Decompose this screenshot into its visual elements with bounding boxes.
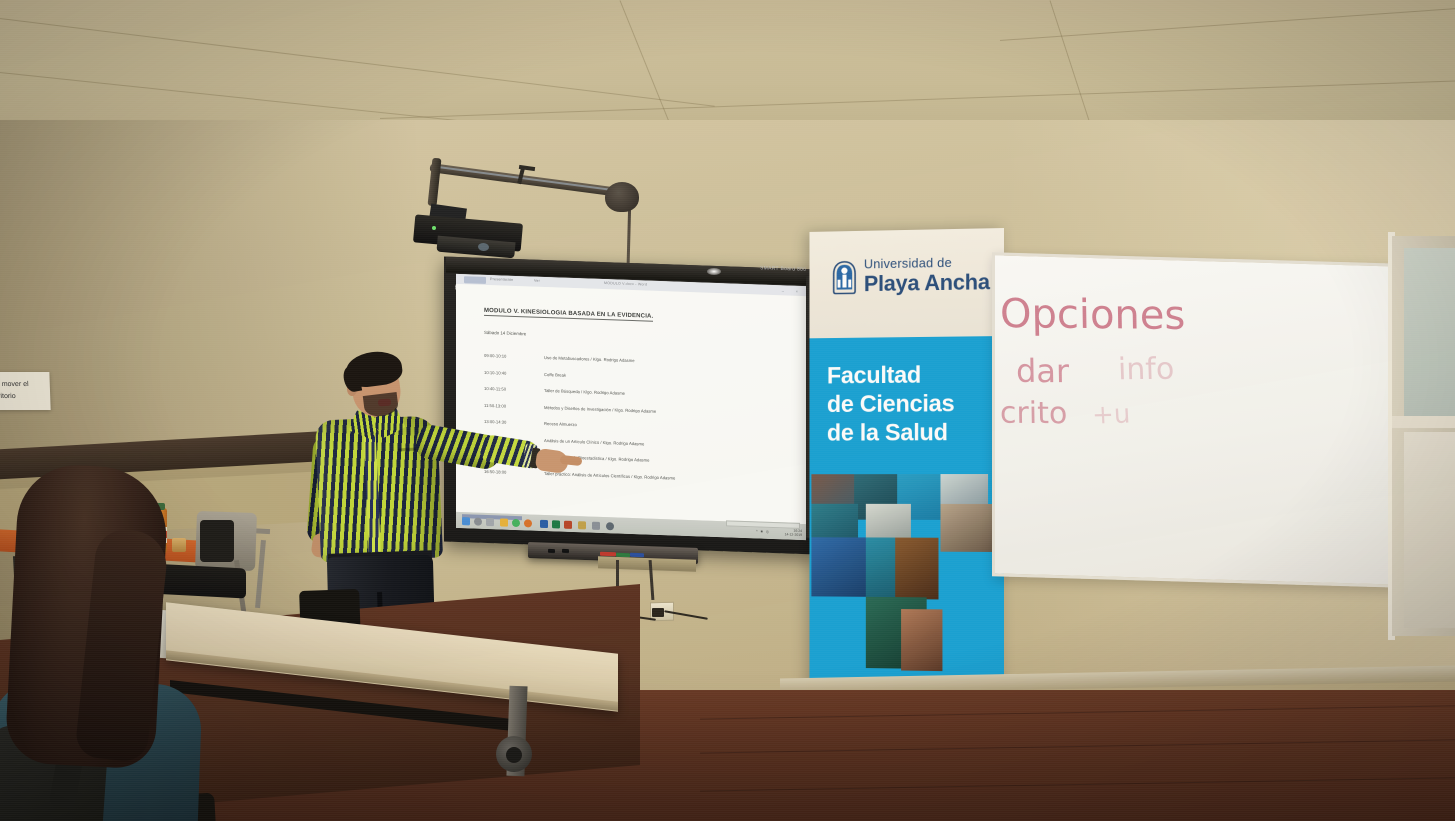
whiteboard-text-line2-faded: info xyxy=(1117,352,1174,387)
window-tab-2[interactable]: Ver xyxy=(534,279,540,283)
app-icon[interactable] xyxy=(592,522,600,530)
window-minimize-button[interactable]: – xyxy=(782,288,784,293)
power-plug xyxy=(652,608,664,617)
seated-student xyxy=(0,466,205,821)
wall-sign: mover el ritorio xyxy=(0,372,51,410)
faculty-line3: de la Salud xyxy=(827,418,955,447)
window-title: MODULO V.docx - Word xyxy=(604,281,647,287)
excel-icon[interactable] xyxy=(552,520,560,528)
schedule-activity: Taller de Búsqueda / Klgo. Rodrigo Adasm… xyxy=(544,388,625,396)
collage-photo xyxy=(895,538,938,600)
banner-faculty-title: Facultad de Ciencias de la Salud xyxy=(827,360,955,447)
schedule-activity: Taller práctico: Análisis de Artículos C… xyxy=(544,470,675,480)
whiteboard-text-line3-faded: +u xyxy=(1091,400,1131,431)
banner-photo-collage xyxy=(809,474,1004,680)
window-panel-lower xyxy=(1404,432,1455,628)
slide-date: Sábado 14 Diciembre xyxy=(484,330,526,336)
folder-icon[interactable] xyxy=(578,521,586,529)
banner-university-line2: Playa Ancha xyxy=(864,269,990,297)
wall-sign-line2: ritorio xyxy=(0,393,16,400)
window-glass-upper xyxy=(1404,248,1455,416)
shirt-pocket xyxy=(398,448,416,452)
window-transom-bar xyxy=(1392,416,1455,428)
rollup-banner: Universidad de Playa Ancha Facultad de C… xyxy=(809,228,1004,748)
banner-university-line1: Universidad de xyxy=(864,255,952,271)
wall-sign-line1: mover el xyxy=(2,381,29,388)
media-icon[interactable] xyxy=(606,522,614,530)
whiteboard-text-line1: Opciones xyxy=(1000,291,1186,339)
schedule-activity: Uso de Metabuscadores / Klgo. Rodrigo Ad… xyxy=(544,355,635,363)
pen-slot xyxy=(562,549,569,553)
whiteboard-text-line3: crito xyxy=(1000,396,1068,432)
window-tab-1[interactable]: Presentación xyxy=(490,277,513,282)
board-light-glint xyxy=(707,268,721,275)
schedule-activity: Receso Almuerzo xyxy=(544,421,577,427)
pen-slot xyxy=(548,549,555,553)
classroom-photo-scene: mover el ritorio SMART SMART Board 800 P… xyxy=(0,0,1455,821)
collage-photo xyxy=(940,504,992,552)
schedule-activity: Coffe Break xyxy=(544,371,566,377)
whiteboard-text-line2: dar xyxy=(1016,352,1070,391)
caster-hub xyxy=(506,747,522,763)
window-close-button[interactable]: × xyxy=(796,288,798,293)
schedule-activity: Métodos y Diseños de Investigación / Klg… xyxy=(544,404,656,413)
chair-dark-inset xyxy=(200,520,234,562)
taskbar-clock[interactable]: 16:24 14-12-2019 xyxy=(785,528,802,537)
slide-title: MODULO V. KINESIOLOGIA BASADA EN LA EVID… xyxy=(484,308,653,322)
presenter-mouth xyxy=(378,399,391,407)
system-tray-icons[interactable]: ^ ■ ◎ xyxy=(756,529,770,533)
faculty-line1: Facultad xyxy=(827,360,955,390)
collage-photo xyxy=(901,609,942,671)
university-logo-icon xyxy=(831,261,858,295)
window-menu-chip[interactable] xyxy=(464,276,486,284)
clock-date: 14-12-2019 xyxy=(785,532,802,537)
projector-wall-mount xyxy=(605,182,639,212)
schedule-activity: Análisis de un Artículo Clínico / Klgo. … xyxy=(544,437,644,446)
projector-status-led xyxy=(432,226,436,230)
powerpoint-icon[interactable] xyxy=(564,521,572,529)
collage-photo xyxy=(811,537,865,597)
faculty-line2: de Ciencias xyxy=(827,389,955,419)
